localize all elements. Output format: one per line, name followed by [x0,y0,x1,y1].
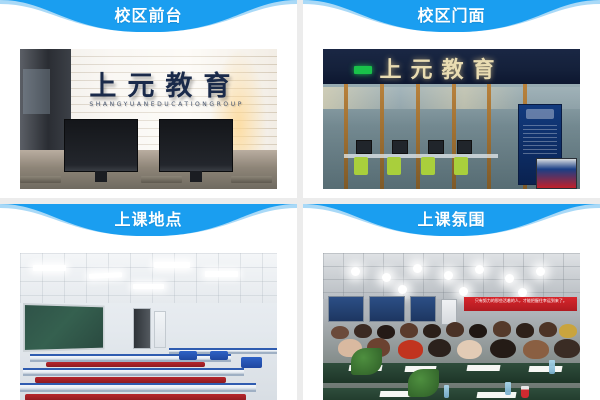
storefront-mullion [344,84,348,189]
banner-ribbon-shape [303,0,600,38]
storefront-mullion [416,84,420,189]
banner-class-location: 上课地点 [0,204,297,242]
audience-person [331,326,349,340]
reception-keyboard [20,176,61,183]
ceiling-spotlight [382,273,391,282]
ceiling-spotlight [351,267,360,276]
photo-frame-class-atmosphere[interactable]: 只有努力的那些活着的人，才能把握住幸运到来了。 [323,253,580,400]
storefront-interior-monitor [392,140,407,154]
water-bottle [444,385,450,399]
lecture-paper [466,365,500,371]
banner-ribbon-shape [303,204,600,242]
storefront-interior-chair [387,157,401,175]
classroom-bench-row [46,362,205,367]
storefront-interior-monitor [457,140,472,154]
storefront-mullion [487,84,491,189]
reception-monitor [159,119,234,172]
banner-ribbon-shape [0,0,297,38]
reception-keyboard [141,176,182,183]
photo-campus-storefront: 上元教育 [323,49,580,189]
classroom-desk-row [20,383,256,392]
storefront-interior-chair [454,157,468,175]
drink-cup [521,386,529,398]
campus-gallery-grid: 校区前台 上元教育 SHANGYUANEDUCATIONGROUP [0,0,600,400]
reception-keyboard [231,176,272,183]
lecture-wall-banner: 只有努力的那些活着的人，才能把握住幸运到来了。 [464,297,577,311]
reception-logo-en: SHANGYUANEDUCATIONGROUP [89,101,244,108]
audience-person [523,340,549,359]
audience-person [428,339,451,358]
audience-person [377,325,395,339]
audience-person [398,340,424,359]
audience-person [554,339,580,358]
photo-class-location [20,253,277,400]
storefront-promo-kiosk [536,158,577,189]
reception-logo-cn: 上元教育 [89,64,241,103]
photo-frame-campus-reception[interactable]: 上元教育 SHANGYUANEDUCATIONGROUP [20,49,277,189]
audience-person [400,323,418,338]
classroom-chair [241,357,262,368]
ceiling-spotlight [398,285,407,294]
ceiling-lamp [133,284,164,289]
photo-class-atmosphere: 只有努力的那些活着的人，才能把握住幸运到来了。 [323,253,580,400]
audience-person [446,322,464,337]
classroom-ceiling [20,253,277,303]
audience-person [423,324,441,338]
audience-person [354,324,372,339]
classroom-desk-row [23,368,244,376]
storefront-mullion [380,84,384,189]
audience-person [490,339,516,359]
potted-plant [408,369,439,397]
banner-class-atmosphere: 上课氛围 [303,204,600,242]
reception-desk [20,150,277,189]
audience-person [469,324,487,339]
banner-campus-storefront: 校区门面 [303,0,600,38]
ceiling-lamp [33,265,66,270]
photo-frame-class-location[interactable] [20,253,277,400]
water-bottle [549,360,555,374]
ceiling-lamp [154,262,190,267]
audience-person [493,321,511,336]
audience-person [516,323,534,338]
classroom-chair [179,351,197,360]
storefront-led-sign [354,66,372,74]
water-bottle [505,382,511,396]
banner-campus-reception: 校区前台 [0,0,297,38]
banner-ribbon-shape [0,204,297,242]
storefront-interior-chair [421,157,435,175]
classroom-door [133,308,151,349]
classroom-cabinet [154,311,167,348]
storefront-interior-chair [354,157,368,175]
ceiling-spotlight [459,287,468,296]
ceiling-spotlight [475,265,484,274]
panel-campus-storefront[interactable]: 校区门面 上元教育 [303,0,600,198]
photo-campus-reception: 上元教育 SHANGYUANEDUCATIONGROUP [20,49,277,189]
reception-monitor [64,119,139,172]
storefront-interior-monitor [428,140,443,154]
photo-frame-campus-storefront[interactable]: 上元教育 [323,49,580,189]
classroom-chair [210,351,228,360]
ceiling-spotlight [413,264,422,273]
classroom-desk-row [30,354,230,362]
ceiling-lamp [205,271,238,276]
lecture-table [323,388,580,400]
storefront-interior-monitor [356,140,371,154]
lecture-paper [528,366,562,372]
audience-person [457,340,483,360]
classroom-blackboard [23,303,105,352]
audience-person [559,324,577,338]
audience-person [539,322,557,337]
panel-class-atmosphere[interactable]: 上课氛围 只有努力的那些活着的人，才能把握住幸运到来了。 [303,204,600,400]
panel-campus-reception[interactable]: 校区前台 上元教育 SHANGYUANEDUCATIONGROUP [0,0,297,198]
storefront-sign-text: 上元教育 [380,52,504,84]
panel-class-location[interactable]: 上课地点 [0,204,297,400]
